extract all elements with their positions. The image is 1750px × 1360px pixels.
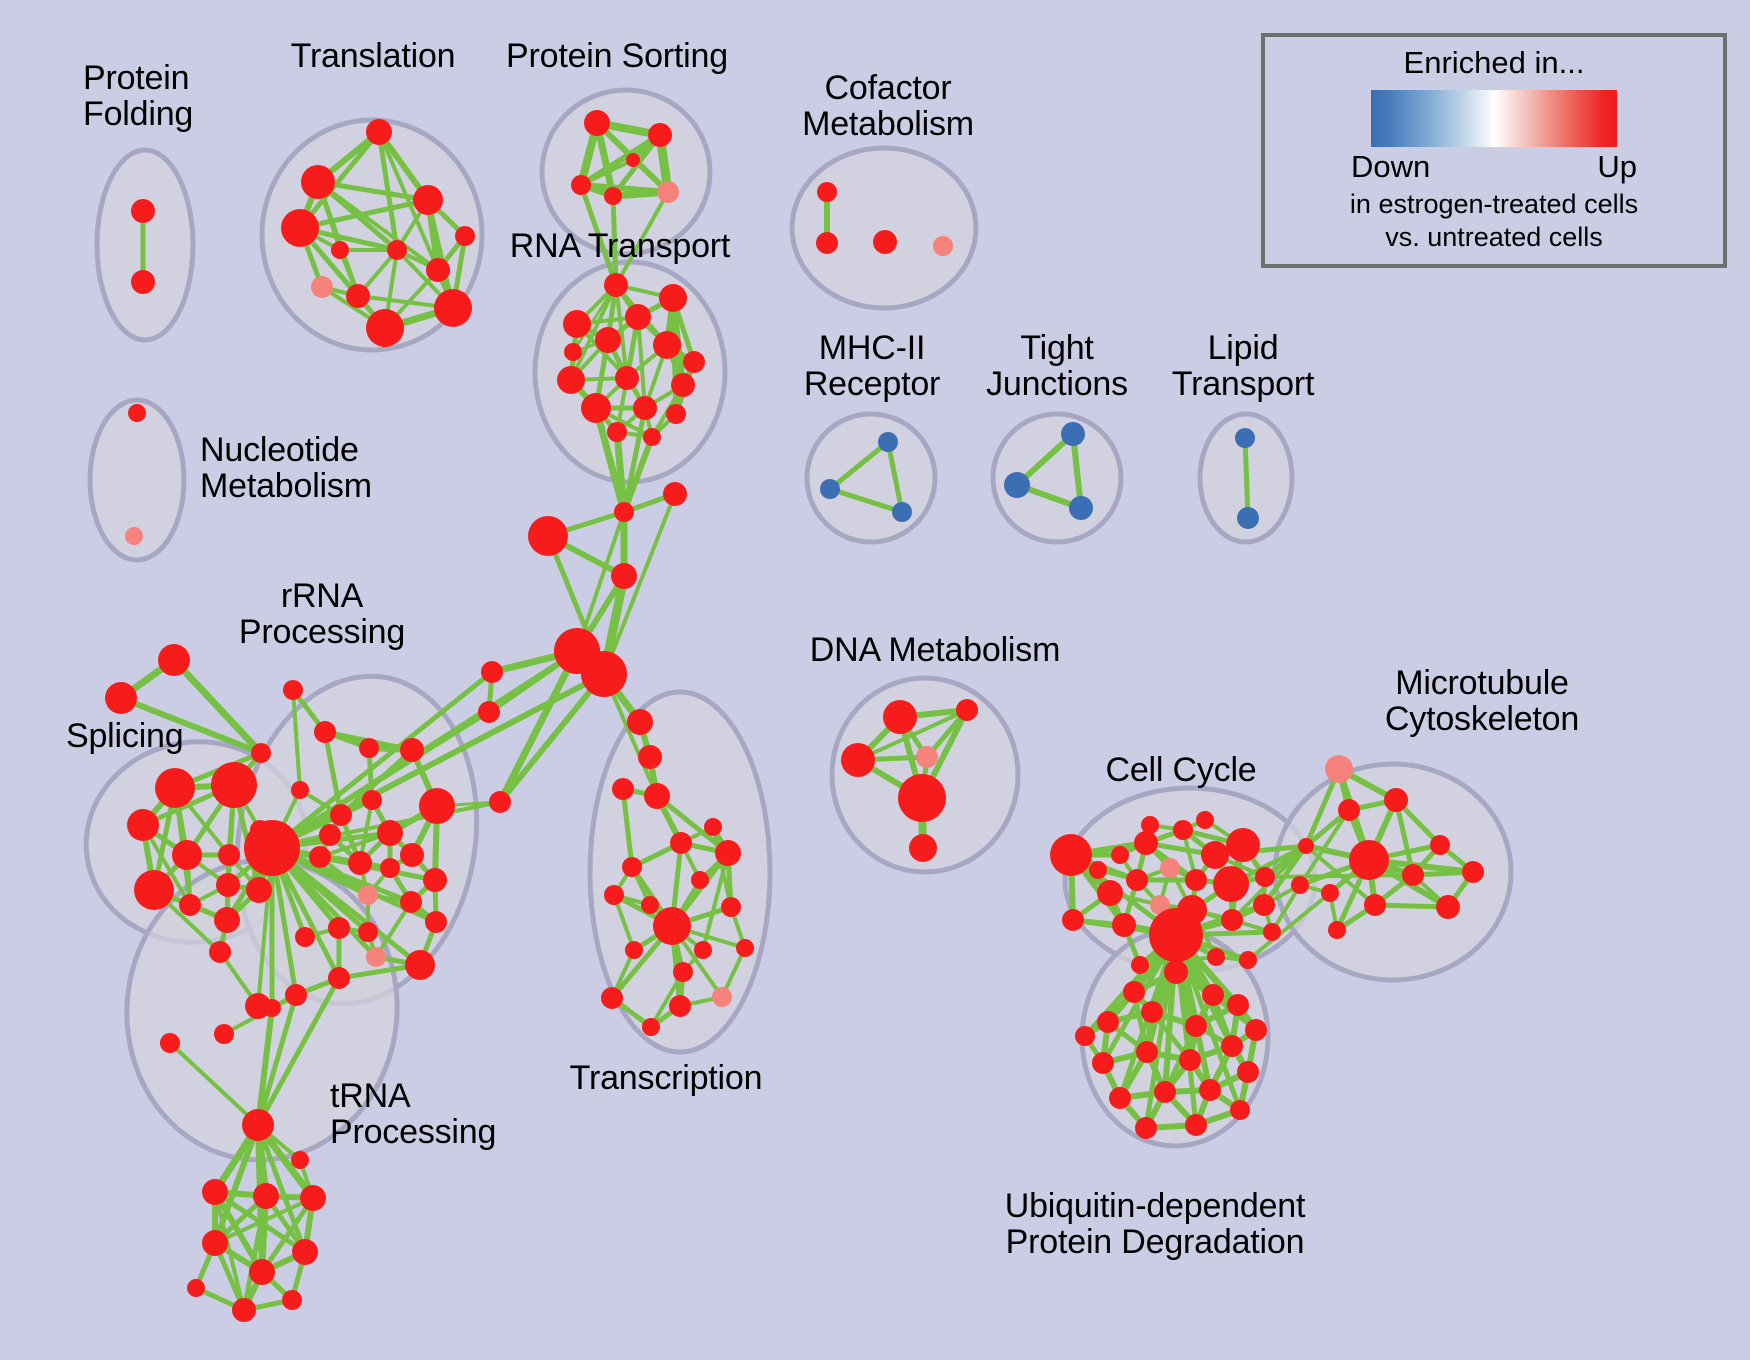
cluster-label-line: RNA Transport [510,228,730,264]
network-node[interactable] [633,396,657,420]
network-node[interactable] [1263,923,1281,941]
network-node[interactable] [311,276,333,298]
network-node[interactable] [328,967,350,989]
cluster-hull [792,148,976,308]
cluster-label: MHC-IIReceptor [804,330,940,402]
network-node[interactable] [1328,921,1346,939]
cluster-label: TightJunctions [986,330,1128,402]
network-node[interactable] [615,366,639,390]
cluster-label: Ubiquitin-dependentProtein Degradation [1005,1188,1306,1260]
network-node[interactable] [666,404,686,424]
network-node[interactable] [1199,1079,1221,1101]
network-node[interactable] [413,185,443,215]
network-node[interactable] [670,832,692,854]
network-node[interactable] [627,709,653,735]
network-node[interactable] [1111,846,1129,864]
network-node[interactable] [1134,831,1158,855]
cluster-label-line: Translation [291,38,456,74]
network-node[interactable] [1123,981,1145,1003]
cluster-label-line: Tight [986,330,1128,366]
network-node[interactable] [653,331,681,359]
network-node[interactable] [246,877,272,903]
network-node[interactable] [380,858,400,878]
cluster-label-line: Protein Degradation [1005,1224,1306,1260]
network-node[interactable] [160,1033,180,1053]
network-node[interactable] [1126,869,1148,891]
network-node[interactable] [1062,909,1084,931]
cluster-label-line: Metabolism [200,468,372,504]
network-node[interactable] [528,516,568,556]
network-node[interactable] [611,563,637,589]
network-node[interactable] [358,885,378,905]
network-node[interactable] [216,873,240,897]
network-node[interactable] [281,209,319,247]
legend-caption-line-1: in estrogen-treated cells [1265,189,1723,220]
network-node[interactable] [1213,866,1249,902]
network-node[interactable] [128,404,146,422]
network-node[interactable] [1237,507,1259,529]
network-node[interactable] [434,289,472,327]
cluster-label-line: Transcription [570,1060,763,1096]
network-node[interactable] [209,941,231,963]
network-node[interactable] [1291,876,1309,894]
network-node[interactable] [1430,835,1450,855]
legend-color-gradient-bar [1371,90,1617,147]
network-node[interactable] [1201,841,1229,869]
network-node[interactable] [426,258,450,282]
network-node[interactable] [643,428,661,446]
network-node[interactable] [301,165,335,199]
network-node[interactable] [1149,908,1203,962]
cluster-label-line: Cofactor [802,70,974,106]
network-node[interactable] [1112,913,1136,937]
cluster-label: LipidTransport [1172,330,1314,402]
network-node[interactable] [314,721,336,743]
network-node[interactable] [282,1290,302,1310]
network-node[interactable] [564,343,582,361]
network-node[interactable] [1061,422,1085,446]
network-node[interactable] [455,226,475,246]
network-node[interactable] [1235,428,1255,448]
network-node[interactable] [607,422,627,442]
network-node[interactable] [1089,861,1107,879]
network-node[interactable] [1173,820,1193,840]
network-node[interactable] [214,907,240,933]
cluster-label-line: tRNA [330,1078,496,1114]
network-node[interactable] [244,820,300,876]
network-node[interactable] [625,304,651,330]
cluster-label: ProteinFolding [83,60,193,132]
network-node[interactable] [721,897,741,917]
cluster-label-line: MHC-II [804,330,940,366]
network-node[interactable] [1092,1052,1114,1074]
network-node[interactable] [691,871,709,889]
network-node[interactable] [478,701,500,723]
network-node[interactable] [423,868,447,892]
network-node[interactable] [653,907,691,945]
network-node[interactable] [309,846,331,868]
cluster-label-line: rRNA [239,578,405,614]
network-node[interactable] [595,327,621,353]
network-node[interactable] [366,119,392,145]
network-node[interactable] [625,941,643,959]
network-node[interactable] [489,791,511,813]
network-node[interactable] [1141,816,1159,834]
network-node[interactable] [105,682,137,714]
network-node[interactable] [1154,1081,1176,1103]
network-node[interactable] [1239,951,1257,969]
cluster-label-line: Metabolism [802,106,974,142]
cluster-label-line: Junctions [986,366,1128,402]
cluster-label: CofactorMetabolism [802,70,974,142]
network-node[interactable] [704,818,722,836]
network-node[interactable] [1185,869,1207,891]
cluster-label: rRNAProcessing [239,578,405,650]
network-node[interactable] [1237,1061,1259,1083]
enrichment-map-figure: ProteinFoldingTranslationProtein Sorting… [0,0,1750,1360]
network-node[interactable] [604,885,624,905]
cluster-label-line: Folding [83,96,193,132]
network-node[interactable] [172,840,202,870]
network-node[interactable] [1179,1049,1201,1071]
network-node[interactable] [581,651,627,697]
network-node[interactable] [816,232,838,254]
network-node[interactable] [292,1239,318,1265]
network-node[interactable] [898,774,946,822]
network-node[interactable] [1462,861,1484,883]
network-node[interactable] [211,762,257,808]
network-node[interactable] [319,824,341,846]
network-node[interactable] [1298,838,1314,854]
network-node[interactable] [1253,894,1275,916]
network-node[interactable] [295,927,315,947]
network-node[interactable] [425,911,447,933]
network-node[interactable] [563,310,591,338]
cluster-label: RNA Transport [510,228,730,264]
network-node[interactable] [584,110,610,136]
network-node[interactable] [249,1259,275,1285]
cluster-label: NucleotideMetabolism [200,432,372,504]
network-node[interactable] [1109,1087,1131,1109]
network-node[interactable] [841,743,875,777]
network-node[interactable] [400,738,424,762]
network-node[interactable] [694,941,712,959]
network-node[interactable] [1097,880,1123,906]
legend-down-label: Down [1351,149,1430,185]
network-node[interactable] [179,894,201,916]
legend-caption-line-2: vs. untreated cells [1265,222,1723,253]
legend-box: Enriched in... Down Up in estrogen-treat… [1261,33,1727,268]
network-node[interactable] [916,746,938,768]
network-node[interactable] [1325,755,1353,783]
network-node[interactable] [131,270,155,294]
network-node[interactable] [638,745,662,769]
network-node[interactable] [1160,858,1180,878]
network-node[interactable] [1136,1041,1158,1063]
network-node[interactable] [1321,884,1339,902]
network-node[interactable] [622,857,642,877]
network-node[interactable] [285,984,307,1006]
network-node[interactable] [892,502,912,522]
network-node[interactable] [604,187,622,205]
network-node[interactable] [883,700,917,734]
network-node[interactable] [127,809,159,841]
network-node[interactable] [359,738,379,758]
network-node[interactable] [601,987,623,1009]
network-node[interactable] [366,947,386,967]
cluster-label-line: Processing [330,1114,496,1150]
network-node[interactable] [202,1179,228,1205]
network-node[interactable] [283,680,303,700]
network-node[interactable] [218,844,240,866]
network-node[interactable] [125,527,143,545]
network-node[interactable] [1436,895,1460,919]
cluster-label-line: Nucleotide [200,432,372,468]
network-node[interactable] [291,781,309,799]
cluster-label-line: Ubiquitin-dependent [1005,1188,1306,1224]
cluster-label-line: Receptor [804,366,940,402]
cluster-label-line: Transport [1172,366,1314,402]
network-node[interactable] [581,393,611,423]
network-node[interactable] [232,1298,256,1322]
cluster-label-line: Protein Sorting [506,38,728,74]
network-node[interactable] [878,432,898,452]
cluster-label-line: Processing [239,614,405,650]
network-node[interactable] [909,834,937,862]
network-node[interactable] [817,182,837,202]
cluster-label: Translation [291,38,456,74]
network-node[interactable] [644,783,670,809]
network-node[interactable] [604,273,628,297]
network-node[interactable] [346,284,370,308]
network-node[interactable] [1135,1117,1157,1139]
network-node[interactable] [1004,472,1030,498]
network-node[interactable] [328,917,350,939]
network-node[interactable] [187,1279,205,1297]
cluster-label-line: Protein [83,60,193,96]
network-node[interactable] [612,778,634,800]
network-node[interactable] [1221,1035,1243,1057]
network-node[interactable] [683,351,705,373]
network-node[interactable] [155,768,195,808]
network-node[interactable] [1185,1015,1207,1037]
legend-up-label: Up [1597,149,1637,185]
cluster-label-line: Cell Cycle [1105,752,1256,788]
network-node[interactable] [358,922,378,942]
cluster-label-line: Cytoskeleton [1385,701,1579,737]
network-node[interactable] [1221,909,1243,931]
cluster-label: Cell Cycle [1105,752,1256,788]
network-node[interactable] [715,840,741,866]
network-node[interactable] [571,175,591,195]
network-node[interactable] [253,1183,279,1209]
network-node[interactable] [1131,956,1149,974]
network-node[interactable] [663,482,687,506]
network-node[interactable] [1075,1026,1095,1046]
network-node[interactable] [348,851,372,875]
network-node[interactable] [134,870,174,910]
network-node[interactable] [377,820,403,846]
network-node[interactable] [626,153,640,167]
network-node[interactable] [251,743,271,763]
network-node[interactable] [481,661,503,683]
network-node[interactable] [291,1151,309,1169]
network-node[interactable] [557,366,585,394]
network-node[interactable] [330,804,352,826]
network-node[interactable] [933,236,953,256]
cluster-label: MicrotubuleCytoskeleton [1385,665,1579,737]
network-node[interactable] [242,1109,274,1141]
network-node[interactable] [1245,1019,1267,1041]
network-node[interactable] [1164,960,1188,984]
network-node[interactable] [158,644,190,676]
network-node[interactable] [659,284,687,312]
network-node[interactable] [263,999,281,1017]
cluster-label-line: Microtubule [1385,665,1579,701]
network-node[interactable] [1185,1114,1207,1136]
network-node[interactable] [131,199,155,223]
network-node[interactable] [1097,1011,1119,1033]
network-node[interactable] [1069,496,1093,520]
network-edge [1245,438,1248,518]
network-node[interactable] [331,241,349,259]
network-node[interactable] [387,240,407,260]
legend-endpoint-labels: Down Up [1351,149,1637,187]
network-node[interactable] [614,502,634,522]
cluster-label: Transcription [570,1060,763,1096]
network-node[interactable] [202,1230,228,1256]
network-node[interactable] [1207,948,1225,966]
network-node[interactable] [641,896,659,914]
network-node[interactable] [1141,1001,1163,1023]
network-node[interactable] [1338,799,1360,821]
cluster-label: tRNAProcessing [330,1078,496,1150]
network-node[interactable] [1402,864,1424,886]
cluster-label: DNA Metabolism [810,632,1060,668]
cluster-label-line: DNA Metabolism [810,632,1060,668]
network-node[interactable] [642,1018,660,1036]
cluster-label: Protein Sorting [506,38,728,74]
network-node[interactable] [400,891,422,913]
network-node[interactable] [956,699,978,721]
network-node[interactable] [1364,894,1386,916]
legend-title: Enriched in... [1265,45,1723,81]
cluster-hull [807,414,935,542]
network-node[interactable] [673,962,693,982]
network-node[interactable] [1050,834,1092,876]
network-node[interactable] [873,230,897,254]
network-node[interactable] [214,1024,234,1044]
network-node[interactable] [669,995,691,1017]
network-node[interactable] [820,479,840,499]
network-node[interactable] [648,123,672,147]
network-node[interactable] [419,788,455,824]
network-node[interactable] [405,950,435,980]
network-node[interactable] [362,790,382,810]
network-node[interactable] [736,939,754,957]
cluster-label-line: Lipid [1172,330,1314,366]
network-node[interactable] [366,309,404,347]
network-node[interactable] [1226,828,1260,862]
network-node[interactable] [300,1185,326,1211]
network-node[interactable] [1227,994,1249,1016]
cluster-label-line: Splicing [66,718,183,754]
network-node[interactable] [1255,867,1275,887]
network-node[interactable] [1196,811,1214,829]
network-node[interactable] [400,843,424,867]
network-node[interactable] [1384,788,1408,812]
cluster-label: Splicing [66,718,183,754]
network-node[interactable] [1349,840,1389,880]
network-node[interactable] [671,373,695,397]
network-node[interactable] [657,181,679,203]
network-node[interactable] [1202,984,1224,1006]
network-node[interactable] [712,987,732,1007]
network-node[interactable] [1230,1100,1250,1120]
